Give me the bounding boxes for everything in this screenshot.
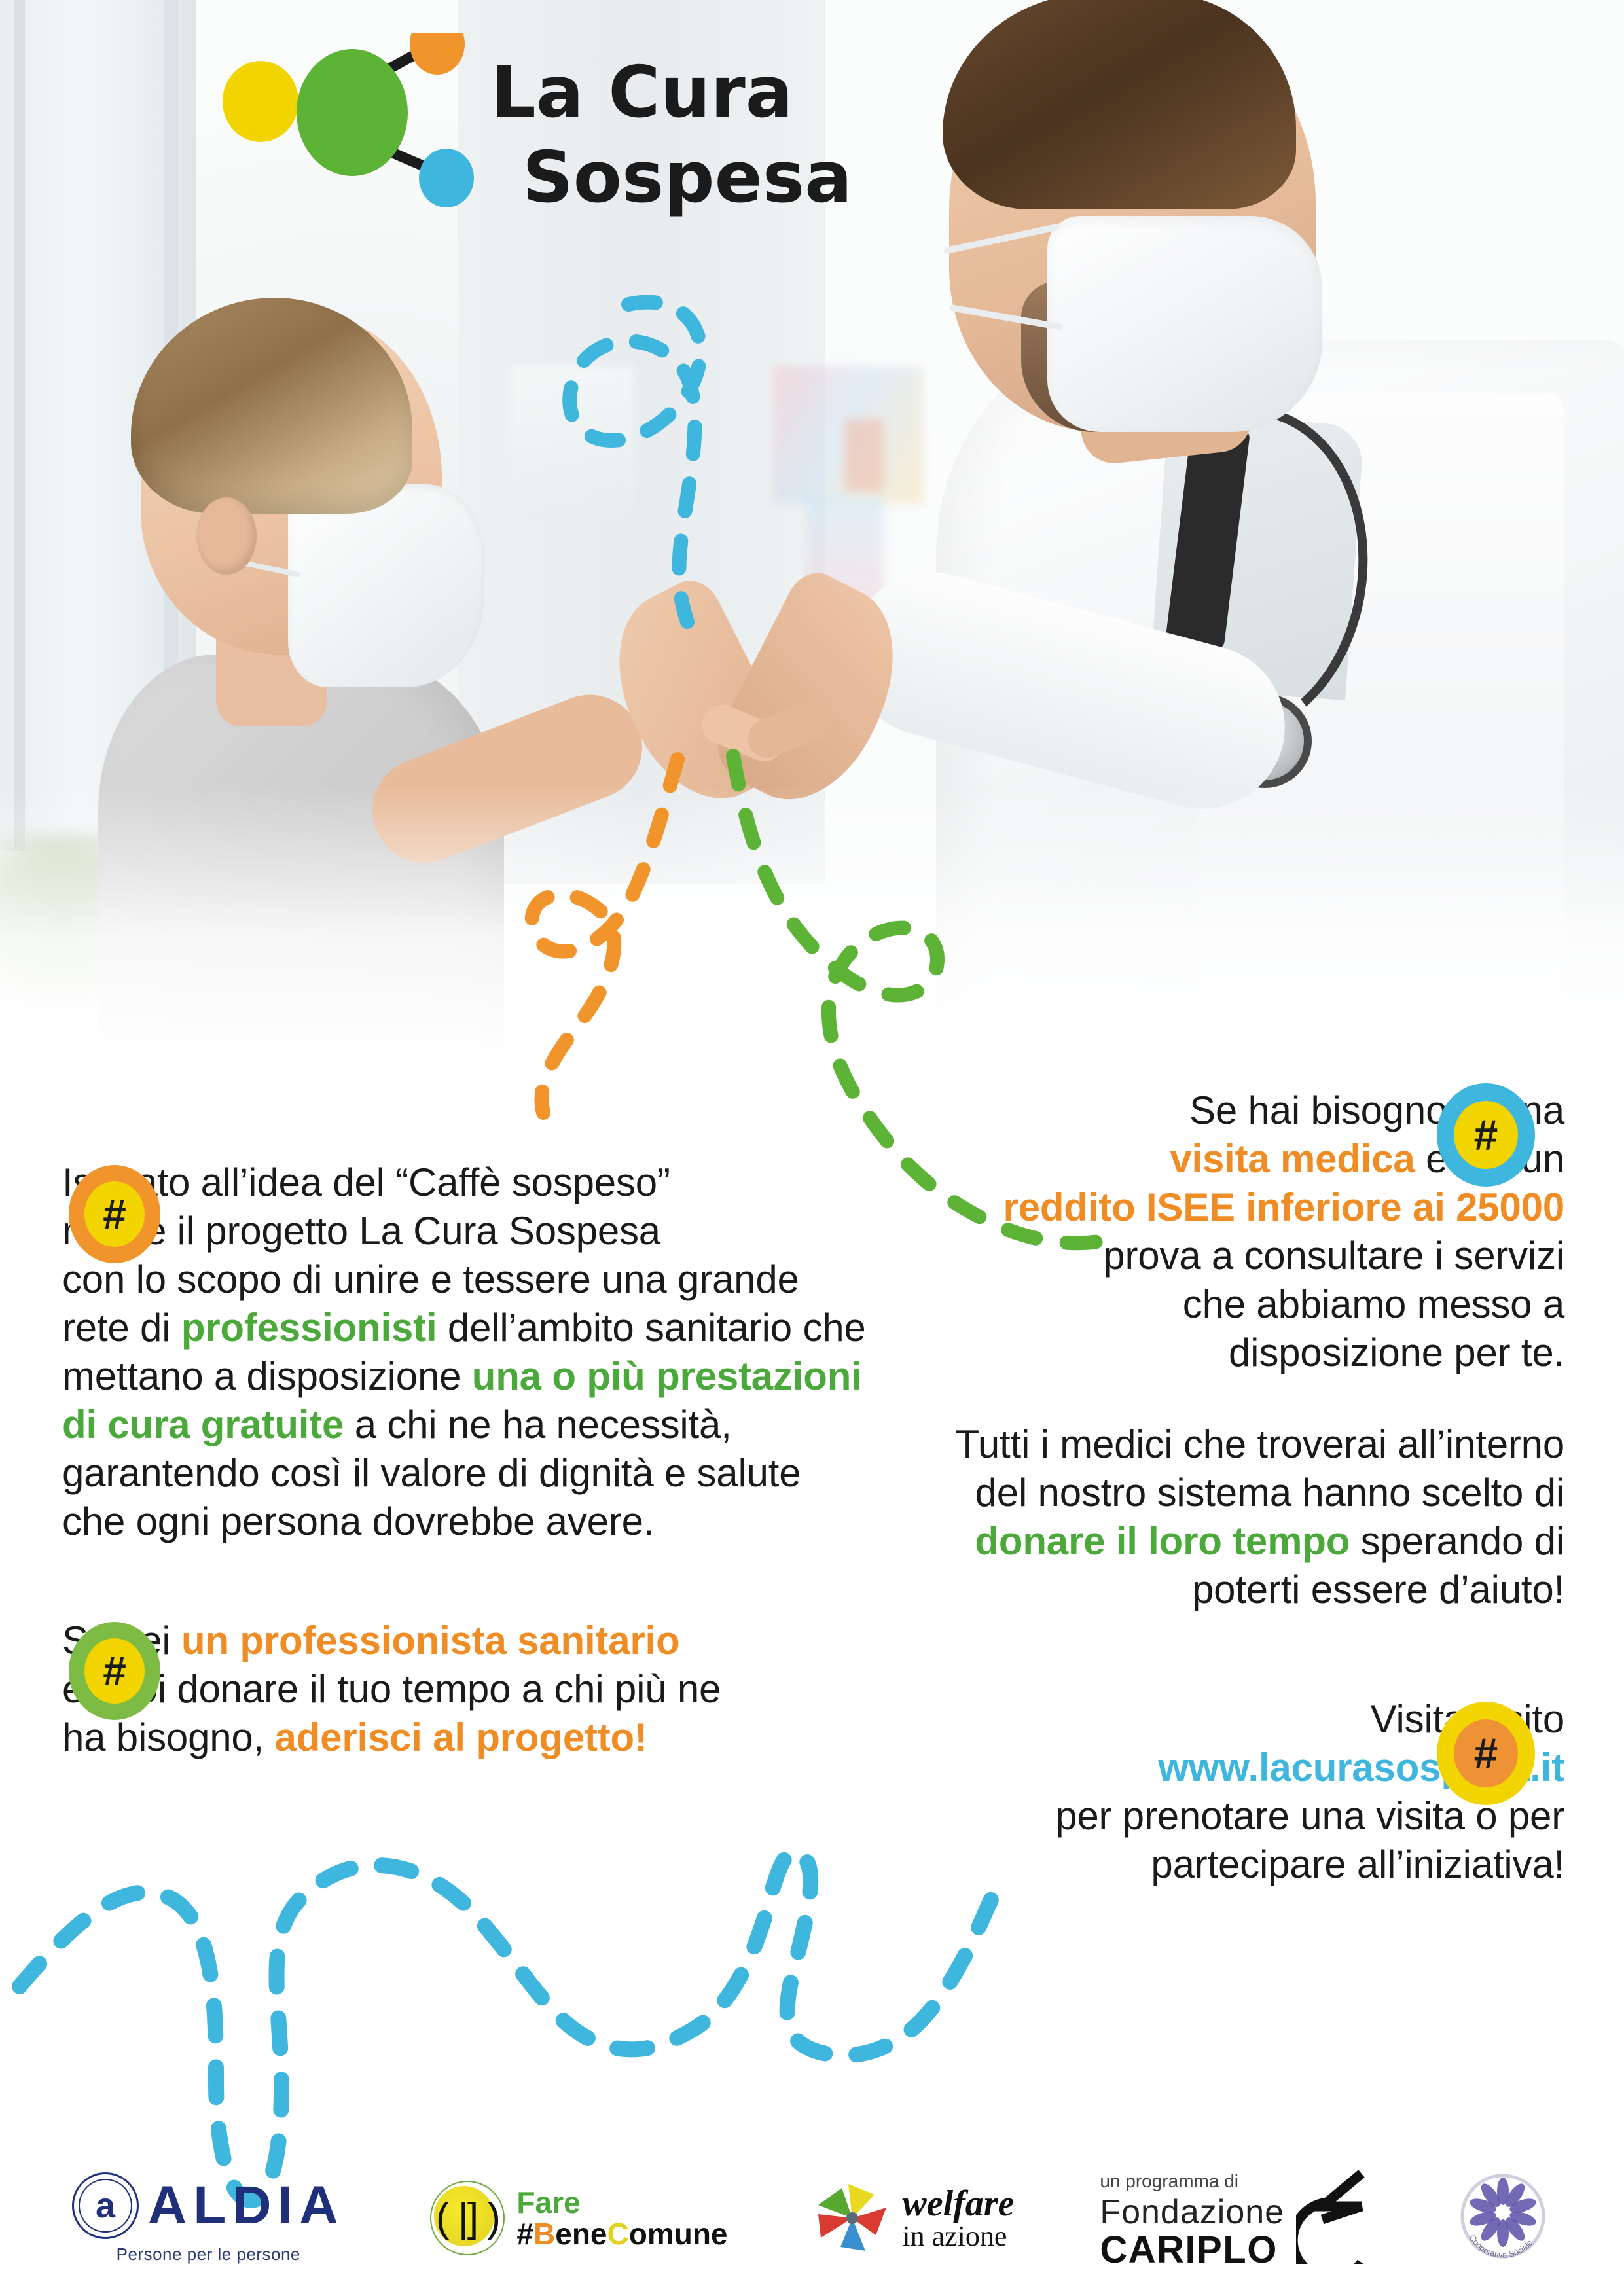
logo-welfare-in-azione: welfare in azione bbox=[813, 2179, 1014, 2257]
cariplo-line1: Fondazione bbox=[1100, 2195, 1284, 2231]
text-run: Tutti i medici che troverai all’interno bbox=[956, 1422, 1564, 1466]
logo-text-line2: Sospesa bbox=[522, 137, 852, 219]
logo-dot-green bbox=[297, 49, 408, 176]
fbc-line1: Fare bbox=[516, 2187, 727, 2218]
hash-badge-patient-label: # bbox=[1454, 1101, 1518, 1169]
boy-face-mask bbox=[288, 484, 484, 687]
emphasis-orange: un professionista sanitario bbox=[181, 1619, 679, 1662]
text-line: prova a consultare i servizi bbox=[910, 1232, 1564, 1280]
logo-fondazione-cariplo: un programma di Fondazione CARIPLO bbox=[1100, 2166, 1368, 2270]
fbc-b: B bbox=[533, 2217, 555, 2251]
logo-aldia: a ALDIA Persone per le persone bbox=[72, 2172, 345, 2265]
text-run: poterti essere d’aiuto! bbox=[1192, 1568, 1564, 1611]
cariplo-eyebrow: un programma di bbox=[1100, 2172, 1284, 2191]
footer-logos: a ALDIA Persone per le persone ( |] ) Fa… bbox=[0, 2140, 1624, 2296]
text-run: con lo scopo di unire e tessere una gran… bbox=[62, 1257, 799, 1301]
hash-badge-professional: # bbox=[69, 1622, 160, 1720]
logo-dot-blue bbox=[419, 149, 474, 207]
text-line: garantendo così il valore di dignità e s… bbox=[62, 1449, 893, 1498]
text-line: Ispirato all’idea del “Caffè sospeso” bbox=[62, 1158, 893, 1207]
text-run: disposizione per te. bbox=[1229, 1331, 1564, 1374]
poster-root: La Cura Sospesa # # # # Ispirato all’ide… bbox=[0, 0, 1624, 2296]
text-run: garantendo così il valore di dignità e s… bbox=[62, 1451, 801, 1495]
plant-blur bbox=[0, 831, 170, 1028]
text-run: a chi ne ha necessità, bbox=[344, 1403, 731, 1446]
emphasis-orange: reddito ISEE inferiore ai 25000 bbox=[1003, 1185, 1564, 1229]
hash-badge-website: # bbox=[1437, 1702, 1535, 1805]
aldia-seal-icon: a bbox=[72, 2172, 139, 2239]
fbc-ene: ene bbox=[555, 2217, 607, 2251]
text-run: rete di bbox=[62, 1306, 181, 1350]
hash-badge-intro-label: # bbox=[84, 1181, 145, 1247]
emphasis-green: professionisti bbox=[181, 1306, 437, 1350]
window-mullion-left bbox=[14, 0, 25, 851]
wall-poster-4 bbox=[844, 419, 884, 491]
aldia-seal-letter: a bbox=[96, 2188, 115, 2223]
text-line: nasce il progetto La Cura Sospesa bbox=[62, 1207, 893, 1255]
text-line: partecipare all’iniziativa! bbox=[910, 1840, 1564, 1889]
text-run: partecipare all’iniziativa! bbox=[1151, 1842, 1564, 1886]
hash-badge-intro: # bbox=[69, 1165, 160, 1263]
text-run: mettano a disposizione bbox=[62, 1354, 472, 1398]
wall-poster-1 bbox=[511, 367, 635, 517]
fbc-hash: # bbox=[516, 2217, 533, 2251]
doctors-lines: Tutti i medici che troverai all’internod… bbox=[910, 1420, 1564, 1614]
text-line: che abbiamo messo a bbox=[910, 1280, 1564, 1329]
text-run: del nostro sistema hanno scelto di bbox=[975, 1471, 1564, 1515]
text-line: con lo scopo di unire e tessere una gran… bbox=[62, 1255, 893, 1304]
doctors-paragraph: Tutti i medici che troverai all’internod… bbox=[910, 1420, 1564, 1614]
text-line: disposizione per te. bbox=[910, 1329, 1564, 1377]
text-line: poterti essere d’aiuto! bbox=[910, 1566, 1564, 1614]
emphasis-green: donare il loro tempo bbox=[975, 1519, 1350, 1563]
aldia-tagline: Persone per le persone bbox=[117, 2244, 300, 2265]
text-run: sperando di bbox=[1350, 1519, 1564, 1563]
intro-lines: Ispirato all’idea del “Caffè sospeso”nas… bbox=[62, 1158, 893, 1546]
emphasis-orange: visita medica bbox=[1170, 1137, 1415, 1181]
fbc-c: C bbox=[607, 2217, 629, 2251]
text-run: e vuoi donare il tuo tempo a chi più ne bbox=[62, 1667, 721, 1711]
intro-paragraph: Ispirato all’idea del “Caffè sospeso”nas… bbox=[62, 1158, 893, 1546]
text-line: e vuoi donare il tuo tempo a chi più ne bbox=[62, 1665, 893, 1713]
logo-text-line1: La Cura bbox=[491, 52, 793, 134]
text-line: che ogni persona dovrebbe avere. bbox=[62, 1498, 893, 1546]
fbc-face-glyph: ( |] ) bbox=[436, 2198, 499, 2238]
text-run: ha bisogno, bbox=[62, 1715, 275, 1759]
aldia-wordmark: ALDIA bbox=[148, 2179, 345, 2233]
hash-badge-patient: # bbox=[1437, 1083, 1535, 1187]
text-line: reddito ISEE inferiore ai 25000 bbox=[910, 1183, 1564, 1232]
doctor-face-mask bbox=[1047, 216, 1322, 432]
hash-badge-website-label: # bbox=[1454, 1719, 1518, 1787]
text-line: di cura gratuite a chi ne ha necessità, bbox=[62, 1401, 893, 1449]
smiley-face-icon: ( |] ) bbox=[430, 2181, 505, 2255]
text-run: prova a consultare i servizi bbox=[1103, 1234, 1564, 1278]
pinwheel-icon bbox=[813, 2179, 892, 2257]
text-line: Tutti i medici che troverai all’interno bbox=[910, 1420, 1564, 1469]
professional-lines: Se sei un professionista sanitario e vuo… bbox=[62, 1617, 893, 1762]
logo-dot-yellow bbox=[223, 61, 298, 142]
text-line: donare il loro tempo sperando di bbox=[910, 1517, 1564, 1566]
coop-flower-icon bbox=[1468, 2178, 1538, 2247]
cariplo-line2: CARIPLO bbox=[1100, 2231, 1284, 2270]
hash-badge-professional-label: # bbox=[84, 1638, 145, 1704]
cariplo-mark-icon bbox=[1296, 2166, 1368, 2270]
emphasis-green: di cura gratuite bbox=[62, 1403, 344, 1446]
text-line: rete di professionisti dell’ambito sanit… bbox=[62, 1304, 893, 1352]
welfare-line2: in azione bbox=[902, 2222, 1014, 2251]
text-run: che ogni persona dovrebbe avere. bbox=[62, 1499, 654, 1543]
emphasis-green: una o più prestazioni bbox=[472, 1354, 862, 1398]
logo-dot-orange bbox=[410, 33, 465, 75]
brand-logo: La Cura Sospesa bbox=[209, 33, 897, 249]
fbc-line2: #BeneComune bbox=[516, 2218, 727, 2250]
professional-paragraph: Se sei un professionista sanitario e vuo… bbox=[62, 1617, 893, 1762]
logo-cooperativa-sociale: Cooperativa Sociale bbox=[1454, 2169, 1552, 2267]
text-run: che abbiamo messo a bbox=[1183, 1282, 1564, 1326]
text-line: Se sei un professionista sanitario bbox=[62, 1617, 893, 1665]
text-line: ha bisogno, aderisci al progetto! bbox=[62, 1713, 893, 1762]
logo-nodes bbox=[223, 33, 474, 207]
logo-farebenecomune: ( |] ) Fare #BeneComune bbox=[430, 2181, 727, 2255]
text-run: dell’ambito sanitario che bbox=[437, 1306, 865, 1350]
boy-ear bbox=[196, 497, 257, 575]
doctor-hair bbox=[943, 0, 1296, 209]
emphasis-orange: aderisci al progetto! bbox=[275, 1715, 647, 1759]
welfare-line1: welfare bbox=[902, 2185, 1014, 2222]
fbc-omune: omune bbox=[629, 2217, 728, 2251]
text-line: del nostro sistema hanno scelto di bbox=[910, 1469, 1564, 1517]
text-line: mettano a disposizione una o più prestaz… bbox=[62, 1352, 893, 1401]
